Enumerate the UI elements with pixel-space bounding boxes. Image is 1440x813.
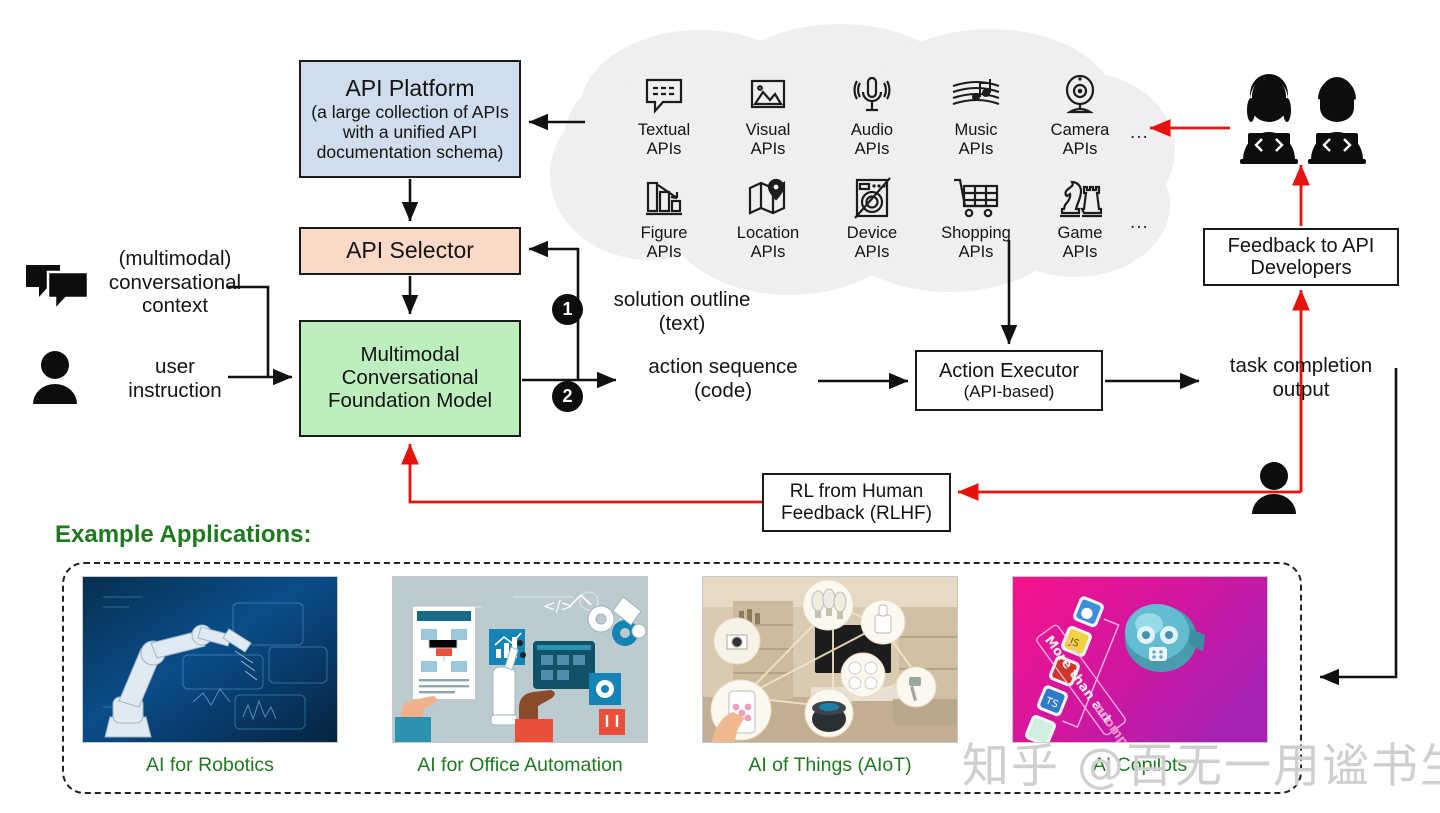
microphone-icon: [849, 70, 895, 118]
action-executor-subtitle: (API-based): [964, 382, 1055, 401]
music-notes-icon: [950, 70, 1002, 118]
example-app-aiot-caption: AI of Things (AIoT): [702, 754, 958, 777]
copilots-thumbnail: ⬤ JS TS: [1012, 576, 1268, 743]
developer-male-icon: [1308, 77, 1366, 164]
step-badge-1: 1: [552, 294, 583, 325]
feedback-to-developers-line1: Feedback to API: [1228, 235, 1375, 257]
cloud-ellipsis-row1: ...: [1130, 122, 1149, 144]
example-app-aiot[interactable]: AI of Things (AIoT): [702, 576, 958, 777]
step-badge-2-text: 2: [562, 386, 572, 407]
task-completion-line1: task completion: [1205, 354, 1397, 378]
api-item-textual-line1: Textual: [638, 121, 690, 140]
action-executor-box[interactable]: Action Executor (API-based): [915, 350, 1103, 411]
foundation-model-line1: Multimodal: [360, 344, 459, 367]
api-item-figure-line2: APIs: [641, 243, 688, 262]
feedback-to-developers-line2: Developers: [1250, 257, 1351, 279]
solution-outline-line1: solution outline: [592, 288, 772, 312]
conversational-context-line2: conversational: [60, 271, 290, 295]
developer-female-icon: [1240, 74, 1298, 164]
conversational-context-label: (multimodal) conversational context: [60, 247, 290, 318]
api-item-visual-line1: Visual: [746, 121, 791, 140]
solution-outline-line2: (text): [592, 312, 772, 336]
foundation-model-box[interactable]: Multimodal Conversational Foundation Mod…: [299, 320, 521, 437]
api-platform-subtitle-line2: with a unified API: [343, 123, 477, 143]
api-item-audio-line1: Audio: [851, 121, 893, 140]
api-item-audio-line2: APIs: [851, 140, 893, 159]
cloud-ellipsis-row2: ...: [1130, 212, 1149, 234]
webcam-icon: [1057, 70, 1103, 118]
task-completion-label: task completion output: [1205, 354, 1397, 401]
api-item-textual[interactable]: Textual APIs: [612, 70, 716, 159]
api-item-shopping-line2: APIs: [941, 243, 1011, 262]
api-platform-box[interactable]: API Platform (a large collection of APIs…: [299, 60, 521, 178]
api-item-camera[interactable]: Camera APIs: [1028, 70, 1132, 159]
api-item-device-line2: APIs: [847, 243, 897, 262]
api-item-game-line2: APIs: [1058, 243, 1103, 262]
api-item-shopping[interactable]: Shopping APIs: [924, 173, 1028, 262]
rlhf-line1: RL from Human: [790, 481, 923, 502]
step-badge-1-text: 1: [562, 299, 572, 320]
api-item-textual-line2: APIs: [638, 140, 690, 159]
aiot-thumbnail: [702, 576, 958, 743]
feedback-to-developers-box[interactable]: Feedback to API Developers: [1203, 228, 1399, 286]
svg-text:</>: </>: [543, 597, 573, 615]
map-pin-icon: [745, 173, 791, 221]
shopping-cart-icon: [951, 173, 1001, 221]
action-executor-title: Action Executor: [939, 360, 1079, 382]
user-instruction-line2: instruction: [95, 379, 255, 403]
api-item-audio[interactable]: Audio APIs: [820, 70, 924, 159]
example-app-robotics[interactable]: AI for Robotics: [82, 576, 338, 777]
watermark-text: 知乎 @百无一用谧书生: [962, 727, 1440, 796]
api-item-game-line1: Game: [1058, 224, 1103, 243]
api-platform-subtitle-line3: documentation schema): [317, 143, 504, 163]
bar-chart-icon: [641, 173, 687, 221]
api-item-visual[interactable]: Visual APIs: [716, 70, 820, 159]
api-item-location-line2: APIs: [737, 243, 799, 262]
example-app-robotics-caption: AI for Robotics: [82, 754, 338, 777]
example-app-office-caption: AI for Office Automation: [392, 754, 648, 777]
api-item-location-line1: Location: [737, 224, 799, 243]
example-app-office[interactable]: </> AI for Office Automation: [392, 576, 648, 777]
action-sequence-line1: action sequence: [628, 355, 818, 379]
text-bubble-icon: [641, 70, 687, 118]
user-person-icon: [33, 351, 77, 404]
api-selector-title: API Selector: [346, 238, 474, 264]
api-item-device-line1: Device: [847, 224, 897, 243]
chess-pieces-icon: [1055, 173, 1105, 221]
api-item-music-line2: APIs: [954, 140, 997, 159]
action-sequence-line2: (code): [628, 379, 818, 403]
human-feedback-person-icon: [1252, 462, 1296, 514]
image-picture-icon: [745, 70, 791, 118]
api-platform-title: API Platform: [345, 76, 474, 102]
action-sequence-label: action sequence (code): [628, 355, 818, 402]
conversational-context-line1: (multimodal): [60, 247, 290, 271]
api-item-location[interactable]: Location APIs: [716, 173, 820, 262]
api-item-visual-line2: APIs: [746, 140, 791, 159]
api-item-game[interactable]: Game APIs: [1028, 173, 1132, 262]
api-item-music-line1: Music: [954, 121, 997, 140]
api-item-music[interactable]: Music APIs: [924, 70, 1028, 159]
api-selector-box[interactable]: API Selector: [299, 227, 521, 275]
api-item-camera-line1: Camera: [1051, 121, 1110, 140]
office-automation-thumbnail: </>: [392, 576, 648, 743]
rlhf-box[interactable]: RL from Human Feedback (RLHF): [762, 473, 951, 532]
conversational-context-line3: context: [60, 294, 290, 318]
robotics-thumbnail: [82, 576, 338, 743]
step-badge-2: 2: [552, 381, 583, 412]
diagram-canvas: API Platform (a large collection of APIs…: [0, 0, 1440, 813]
solution-outline-label: solution outline (text): [592, 288, 772, 335]
user-instruction-label: user instruction: [95, 355, 255, 402]
washing-machine-icon: [849, 173, 895, 221]
example-applications-title: Example Applications:: [55, 521, 312, 549]
api-item-camera-line2: APIs: [1051, 140, 1110, 159]
api-cloud-icon-grid: Textual APIs Visual APIs: [612, 70, 1132, 262]
foundation-model-line3: Foundation Model: [328, 390, 492, 413]
api-item-device[interactable]: Device APIs: [820, 173, 924, 262]
foundation-model-line2: Conversational: [342, 367, 479, 390]
task-completion-line2: output: [1205, 378, 1397, 402]
api-item-figure-line1: Figure: [641, 224, 688, 243]
api-item-shopping-line1: Shopping: [941, 224, 1011, 243]
rlhf-line2: Feedback (RLHF): [781, 503, 932, 524]
user-instruction-line1: user: [95, 355, 255, 379]
api-item-figure[interactable]: Figure APIs: [612, 173, 716, 262]
api-platform-subtitle-line1: (a large collection of APIs: [311, 103, 508, 123]
